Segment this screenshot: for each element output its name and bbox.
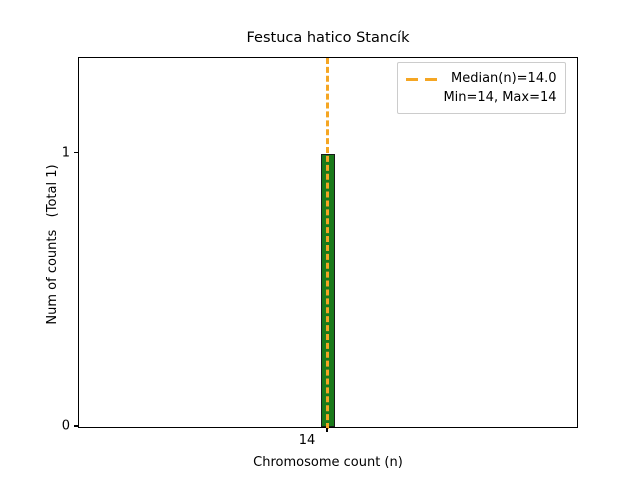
legend-label-median: Median(n)=14.0	[451, 71, 557, 86]
chart-title: Festuca hatico Stancík	[78, 30, 578, 46]
legend-item-minmax: Min=14, Max=14	[406, 88, 557, 107]
ytick-mark-0	[74, 425, 78, 426]
x-axis-label: Chromosome count (n)	[78, 455, 578, 470]
matplotlib-figure: Festuca hatico Stancík 0 1 14 Chromosome…	[0, 0, 640, 480]
y-axis-label: Num of counts (Total 1)	[45, 59, 60, 430]
xtick-mark-14	[326, 428, 327, 432]
dashed-line-icon	[406, 72, 442, 86]
legend: Median(n)=14.0 Min=14, Max=14	[397, 62, 566, 114]
xtick-label-14: 14	[287, 433, 327, 448]
ytick-mark-1	[74, 152, 78, 153]
median-line	[326, 58, 329, 429]
legend-label-minmax: Min=14, Max=14	[443, 90, 556, 105]
legend-item-median: Median(n)=14.0	[406, 69, 557, 88]
